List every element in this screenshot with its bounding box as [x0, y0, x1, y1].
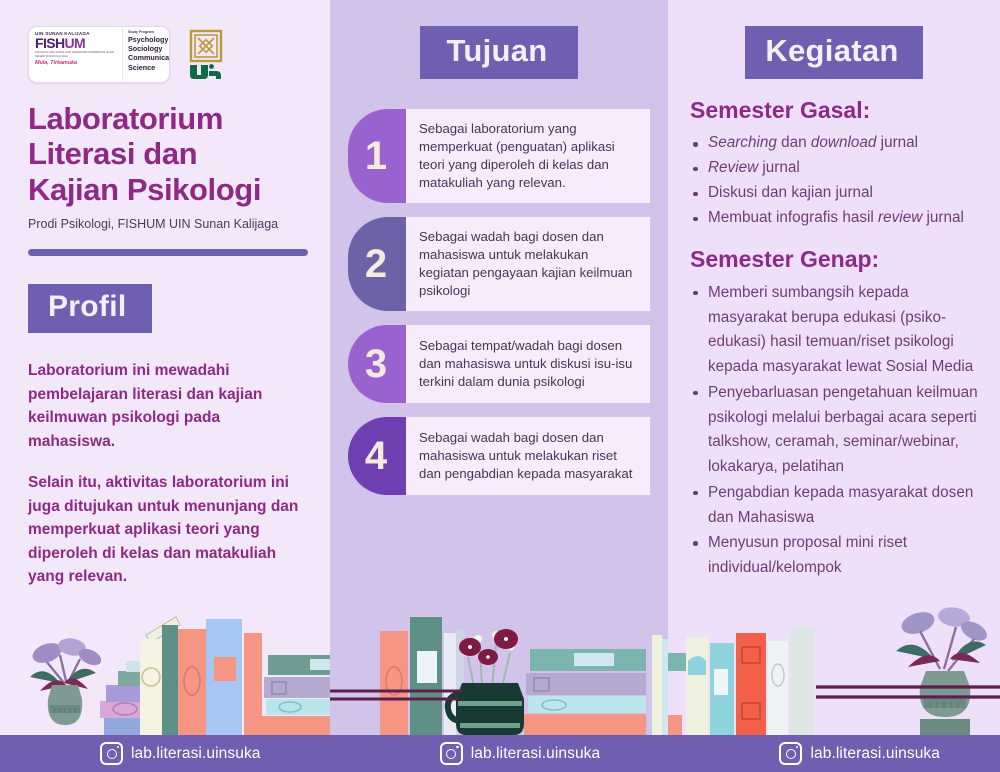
list-item: Penyebarluasan pengetahuan keilmuan psik… [686, 381, 982, 480]
list-item: Menyusun proposal mini riset individual/… [686, 531, 982, 581]
tujuan-item: 1 Sebagai laboratorium yang memperkuat (… [348, 109, 650, 203]
footer-handle-3[interactable]: lab.literasi.uinsuka [660, 735, 1000, 772]
illustration-books-left [0, 595, 330, 735]
profil-body: Laboratorium ini mewadahi pembelajaran l… [28, 359, 304, 589]
instagram-icon [779, 742, 802, 765]
tujuan-text: Sebagai wadah bagi dosen dan mahasiswa u… [406, 417, 650, 495]
fishum-motto: Mula, Tirkamuka [35, 60, 118, 66]
right-panel: Kegiatan Semester Gasal: Searching dan d… [668, 0, 1000, 772]
illustration-books-middle [330, 595, 668, 735]
semester-genap-heading: Semester Genap: [690, 246, 982, 273]
profil-banner: Profil [28, 284, 152, 333]
tujuan-list: 1 Sebagai laboratorium yang memperkuat (… [348, 109, 650, 495]
tujuan-banner: Tujuan [420, 26, 577, 79]
page-title: Laboratorium Literasi dan Kajian Psikolo… [28, 101, 304, 207]
instagram-icon [100, 742, 123, 765]
instagram-handle: lab.literasi.uinsuka [810, 745, 940, 763]
semester-gasal-heading: Semester Gasal: [690, 97, 982, 124]
divider [28, 249, 308, 256]
semester-genap-list: Memberi sumbangsih kepada masyarakat ber… [686, 281, 982, 581]
tujuan-number: 4 [348, 417, 406, 495]
list-item: Pengabdian kepada masyarakat dosen dan M… [686, 481, 982, 531]
tujuan-text: Sebagai laboratorium yang memperkuat (pe… [406, 109, 650, 203]
poster: UIN SUNAN KALIJAGA FISHUM FAKULTAS ILMU … [0, 0, 1000, 772]
tujuan-item: 4 Sebagai wadah bagi dosen dan mahasiswa… [348, 417, 650, 495]
tujuan-item: 2 Sebagai wadah bagi dosen dan mahasiswa… [348, 217, 650, 311]
footer-handle-1[interactable]: lab.literasi.uinsuka [0, 735, 380, 772]
tujuan-number: 1 [348, 109, 406, 203]
tujuan-number: 2 [348, 217, 406, 311]
fishum-fine-print: FAKULTAS ILMU SOSIAL DAN HUMANIORA UNIVE… [35, 51, 118, 58]
program-sociology: Sociology [128, 44, 170, 53]
fishum-logo-left: UIN SUNAN KALIJAGA FISHUM FAKULTAS ILMU … [29, 27, 123, 82]
list-item: Diskusi dan kajian jurnal [686, 182, 982, 205]
fishum-brand: FISHUM [35, 37, 118, 50]
instagram-handle: lab.literasi.uinsuka [471, 745, 601, 763]
fishum-logo: UIN SUNAN KALIJAGA FISHUM FAKULTAS ILMU … [28, 26, 170, 83]
list-item: Searching dan download jurnal [686, 132, 982, 155]
left-panel: UIN SUNAN KALIJAGA FISHUM FAKULTAS ILMU … [0, 0, 330, 772]
list-item: Review jurnal [686, 157, 982, 180]
title-line-3: Kajian Psikologi [28, 172, 261, 207]
tujuan-item: 3 Sebagai tempat/wadah bagi dosen dan ma… [348, 325, 650, 403]
tujuan-number: 3 [348, 325, 406, 403]
middle-panel: Tujuan 1 Sebagai laboratorium yang mempe… [330, 0, 668, 772]
title-line-1: Laboratorium [28, 101, 223, 136]
profil-paragraph-1: Laboratorium ini mewadahi pembelajaran l… [28, 359, 304, 453]
profil-paragraph-2: Selain itu, aktivitas laboratorium ini j… [28, 471, 304, 589]
semester-gasal-list: Searching dan download jurnal Review jur… [686, 132, 982, 230]
illustration-books-right [668, 595, 1000, 735]
page-subtitle: Prodi Psikologi, FISHUM UIN Sunan Kalija… [28, 217, 304, 231]
footer-bar: lab.literasi.uinsuka lab.literasi.uinsuk… [0, 735, 1000, 772]
list-item: Membuat infografis hasil review jurnal [686, 207, 982, 230]
kegiatan-banner: Kegiatan [745, 26, 922, 79]
list-item: Memberi sumbangsih kepada masyarakat ber… [686, 281, 982, 380]
instagram-handle: lab.literasi.uinsuka [131, 745, 261, 763]
fishum-logo-right: Study Program Psychology Sociology Commu… [123, 27, 170, 82]
instagram-icon [440, 742, 463, 765]
logo-row: UIN SUNAN KALIJAGA FISHUM FAKULTAS ILMU … [28, 26, 304, 83]
tujuan-text: Sebagai wadah bagi dosen dan mahasiswa u… [406, 217, 650, 311]
program-communication-science: CommunicationScience [128, 53, 170, 71]
footer-handle-2[interactable]: lab.literasi.uinsuka [380, 735, 660, 772]
uin-logo-icon [184, 29, 228, 81]
title-line-2: Literasi dan [28, 136, 197, 171]
tujuan-text: Sebagai tempat/wadah bagi dosen dan maha… [406, 325, 650, 403]
program-psychology: Psychology [128, 35, 170, 44]
